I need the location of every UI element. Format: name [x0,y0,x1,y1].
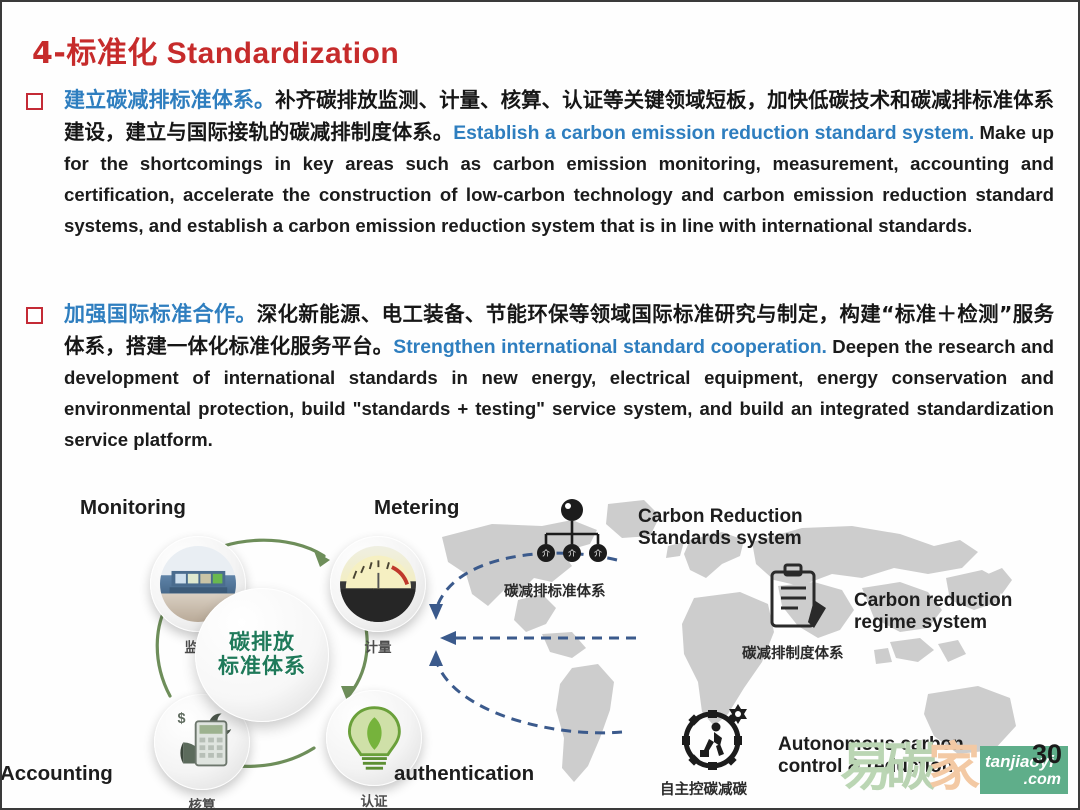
standards-system-en-line2: Standards system [638,528,803,550]
carbon-standard-cycle: 监测 Monitoring [62,490,462,810]
page-title: 4-标准化 Standardization [32,28,399,72]
page-title-en: Standardization [167,37,400,70]
autonomous-control-en-line2: control & reduction [778,756,964,778]
bullet-1-lead-cn: 建立碳减排标准体系。 [64,88,275,112]
calculator-icon: $ [164,704,241,781]
map-item-standards-system[interactable]: 介介介 [532,496,612,576]
map-item-autonomous-control-cn: 自主控碳减碳 [660,778,747,799]
map-item-regime-system-en: Carbon reduction regime system [854,590,1012,635]
hub-line-1: 碳排放 [229,631,295,655]
regime-system-en-line1: Carbon reduction [854,590,1012,612]
hub-line-2: 标准体系 [218,655,306,679]
clipboard-pencil-icon [764,560,836,638]
map-item-regime-system[interactable] [764,560,836,638]
cycle-node-metering-en: Metering [374,496,459,520]
map-item-standards-system-en: Carbon Reduction Standards system [638,506,803,551]
regime-system-en-line2: regime system [854,612,1012,634]
cycle-node-accounting-en: Accounting [0,762,113,786]
svg-text:$: $ [177,711,185,727]
svg-text:介: 介 [594,549,602,558]
map-item-regime-system-cn: 碳减排制度体系 [742,642,844,663]
cycle-node-authentication-cn: 认证 [314,790,434,810]
page-number: 30 [1032,739,1062,770]
autonomous-control-en-line1: Autonomous carbon [778,734,964,756]
bullet-2-lead-cn: 加强国际标准合作。 [64,302,257,326]
bullet-square-icon [26,93,43,110]
bullet-1-lead-en: Establish a carbon emission reduction st… [453,122,974,144]
bullet-2-body: 加强国际标准合作。深化新能源、电工装备、节能环保等领域国际标准研究与制定，构建“… [64,298,1054,456]
cycle-node-accounting-cn: 核算 [142,794,262,810]
bullet-item-2: 加强国际标准合作。深化新能源、电工装备、节能环保等领域国际标准研究与制定，构建“… [24,298,1054,456]
map-item-autonomous-control[interactable] [678,694,756,772]
gear-worker-icon [678,694,756,772]
bullet-2-lead-en: Strengthen international standard cooper… [393,336,827,358]
page-title-cn: 4-标准化 [32,36,158,71]
bullet-1-body: 建立碳减排标准体系。补齐碳排放监测、计量、核算、认证等关键领域短板，加快低碳技术… [64,84,1054,242]
standards-system-en-line1: Carbon Reduction [638,506,803,528]
cycle-node-authentication-en: authentication [394,762,534,786]
bullet-item-1: 建立碳减排标准体系。补齐碳排放监测、计量、核算、认证等关键领域短板，加快低碳技术… [24,84,1054,242]
svg-text:介: 介 [542,549,550,558]
bullet-square-icon [26,307,43,324]
org-hierarchy-icon: 介介介 [532,496,612,576]
svg-text:介: 介 [568,549,576,558]
map-item-autonomous-control-en: Autonomous carbon control & reduction [778,734,964,779]
cycle-node-metering-cn: 计量 [318,636,438,656]
cycle-node-metering[interactable]: VU [330,536,426,632]
cycle-center-hub: 碳排放 标准体系 [195,588,329,722]
slide-canvas: 4-标准化 Standardization 建立碳减排标准体系。补齐碳排放监测、… [0,0,1080,810]
figure-diagram: 监测 Monitoring [2,482,1080,810]
analog-gauge-icon: VU [340,546,417,623]
map-item-standards-system-cn: 碳减排标准体系 [504,580,606,601]
cycle-node-monitoring-en: Monitoring [80,496,186,520]
